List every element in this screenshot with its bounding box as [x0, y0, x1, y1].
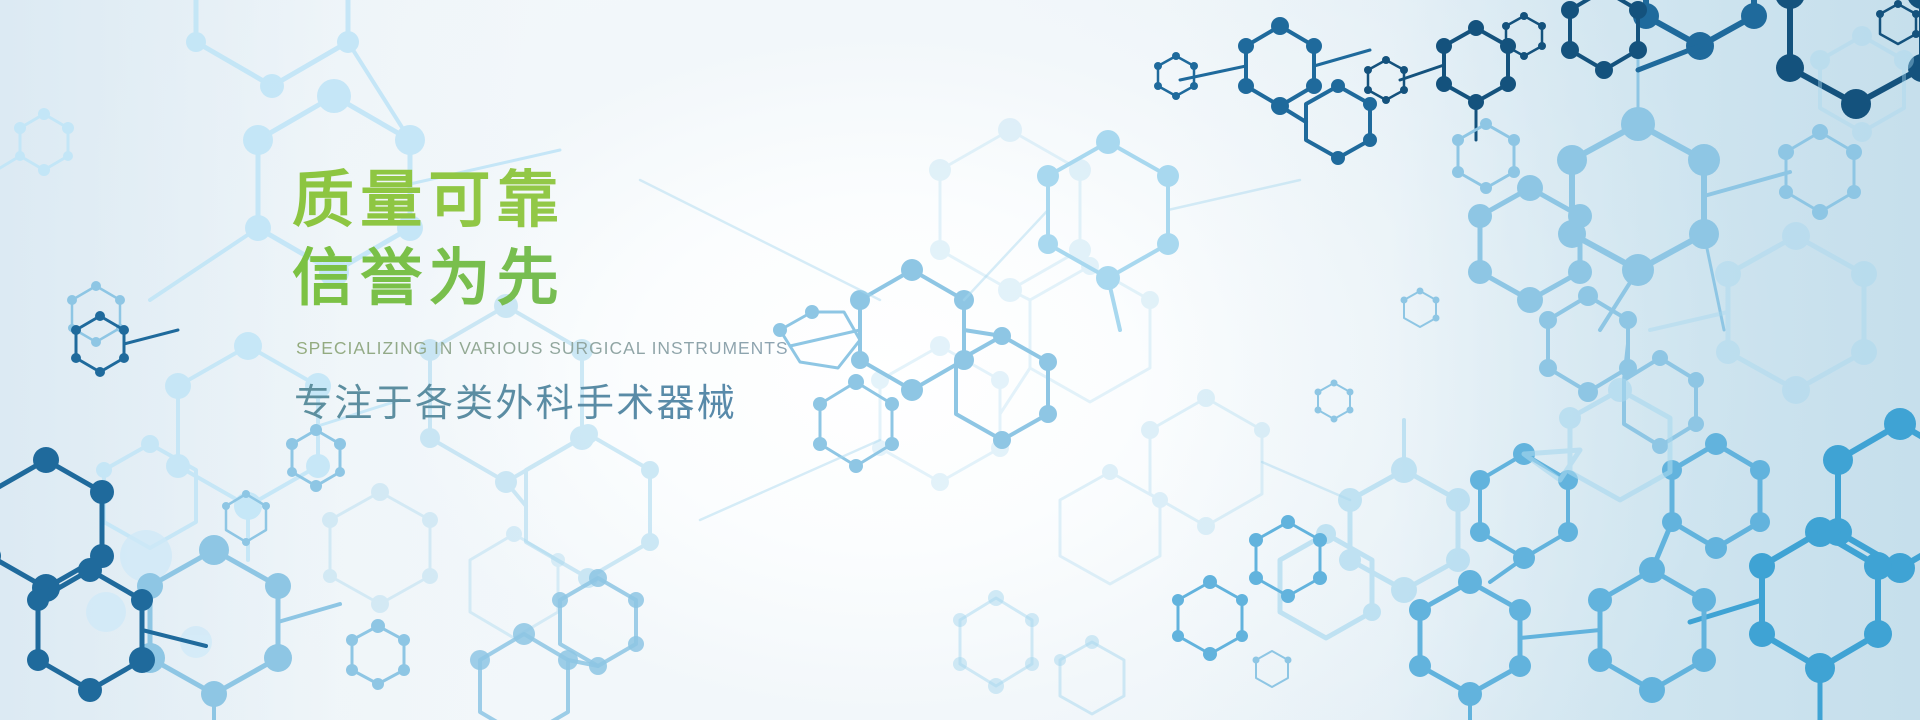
subtitle-english: SPECIALIZING IN VARIOUS SURGICAL INSTRUM… [296, 338, 1052, 359]
headline-line-2: 信誉为先 [292, 246, 1052, 312]
hero-banner: .r { fill:none; stroke-linejoin:round; }… [0, 0, 1920, 720]
headline-line-1: 质量可靠 [292, 168, 1052, 234]
banner-copy: 质量可靠 信誉为先 SPECIALIZING IN VARIOUS SURGIC… [292, 168, 1052, 427]
subtitle-chinese: 专注于各类外科手术器械 [294, 372, 1052, 427]
